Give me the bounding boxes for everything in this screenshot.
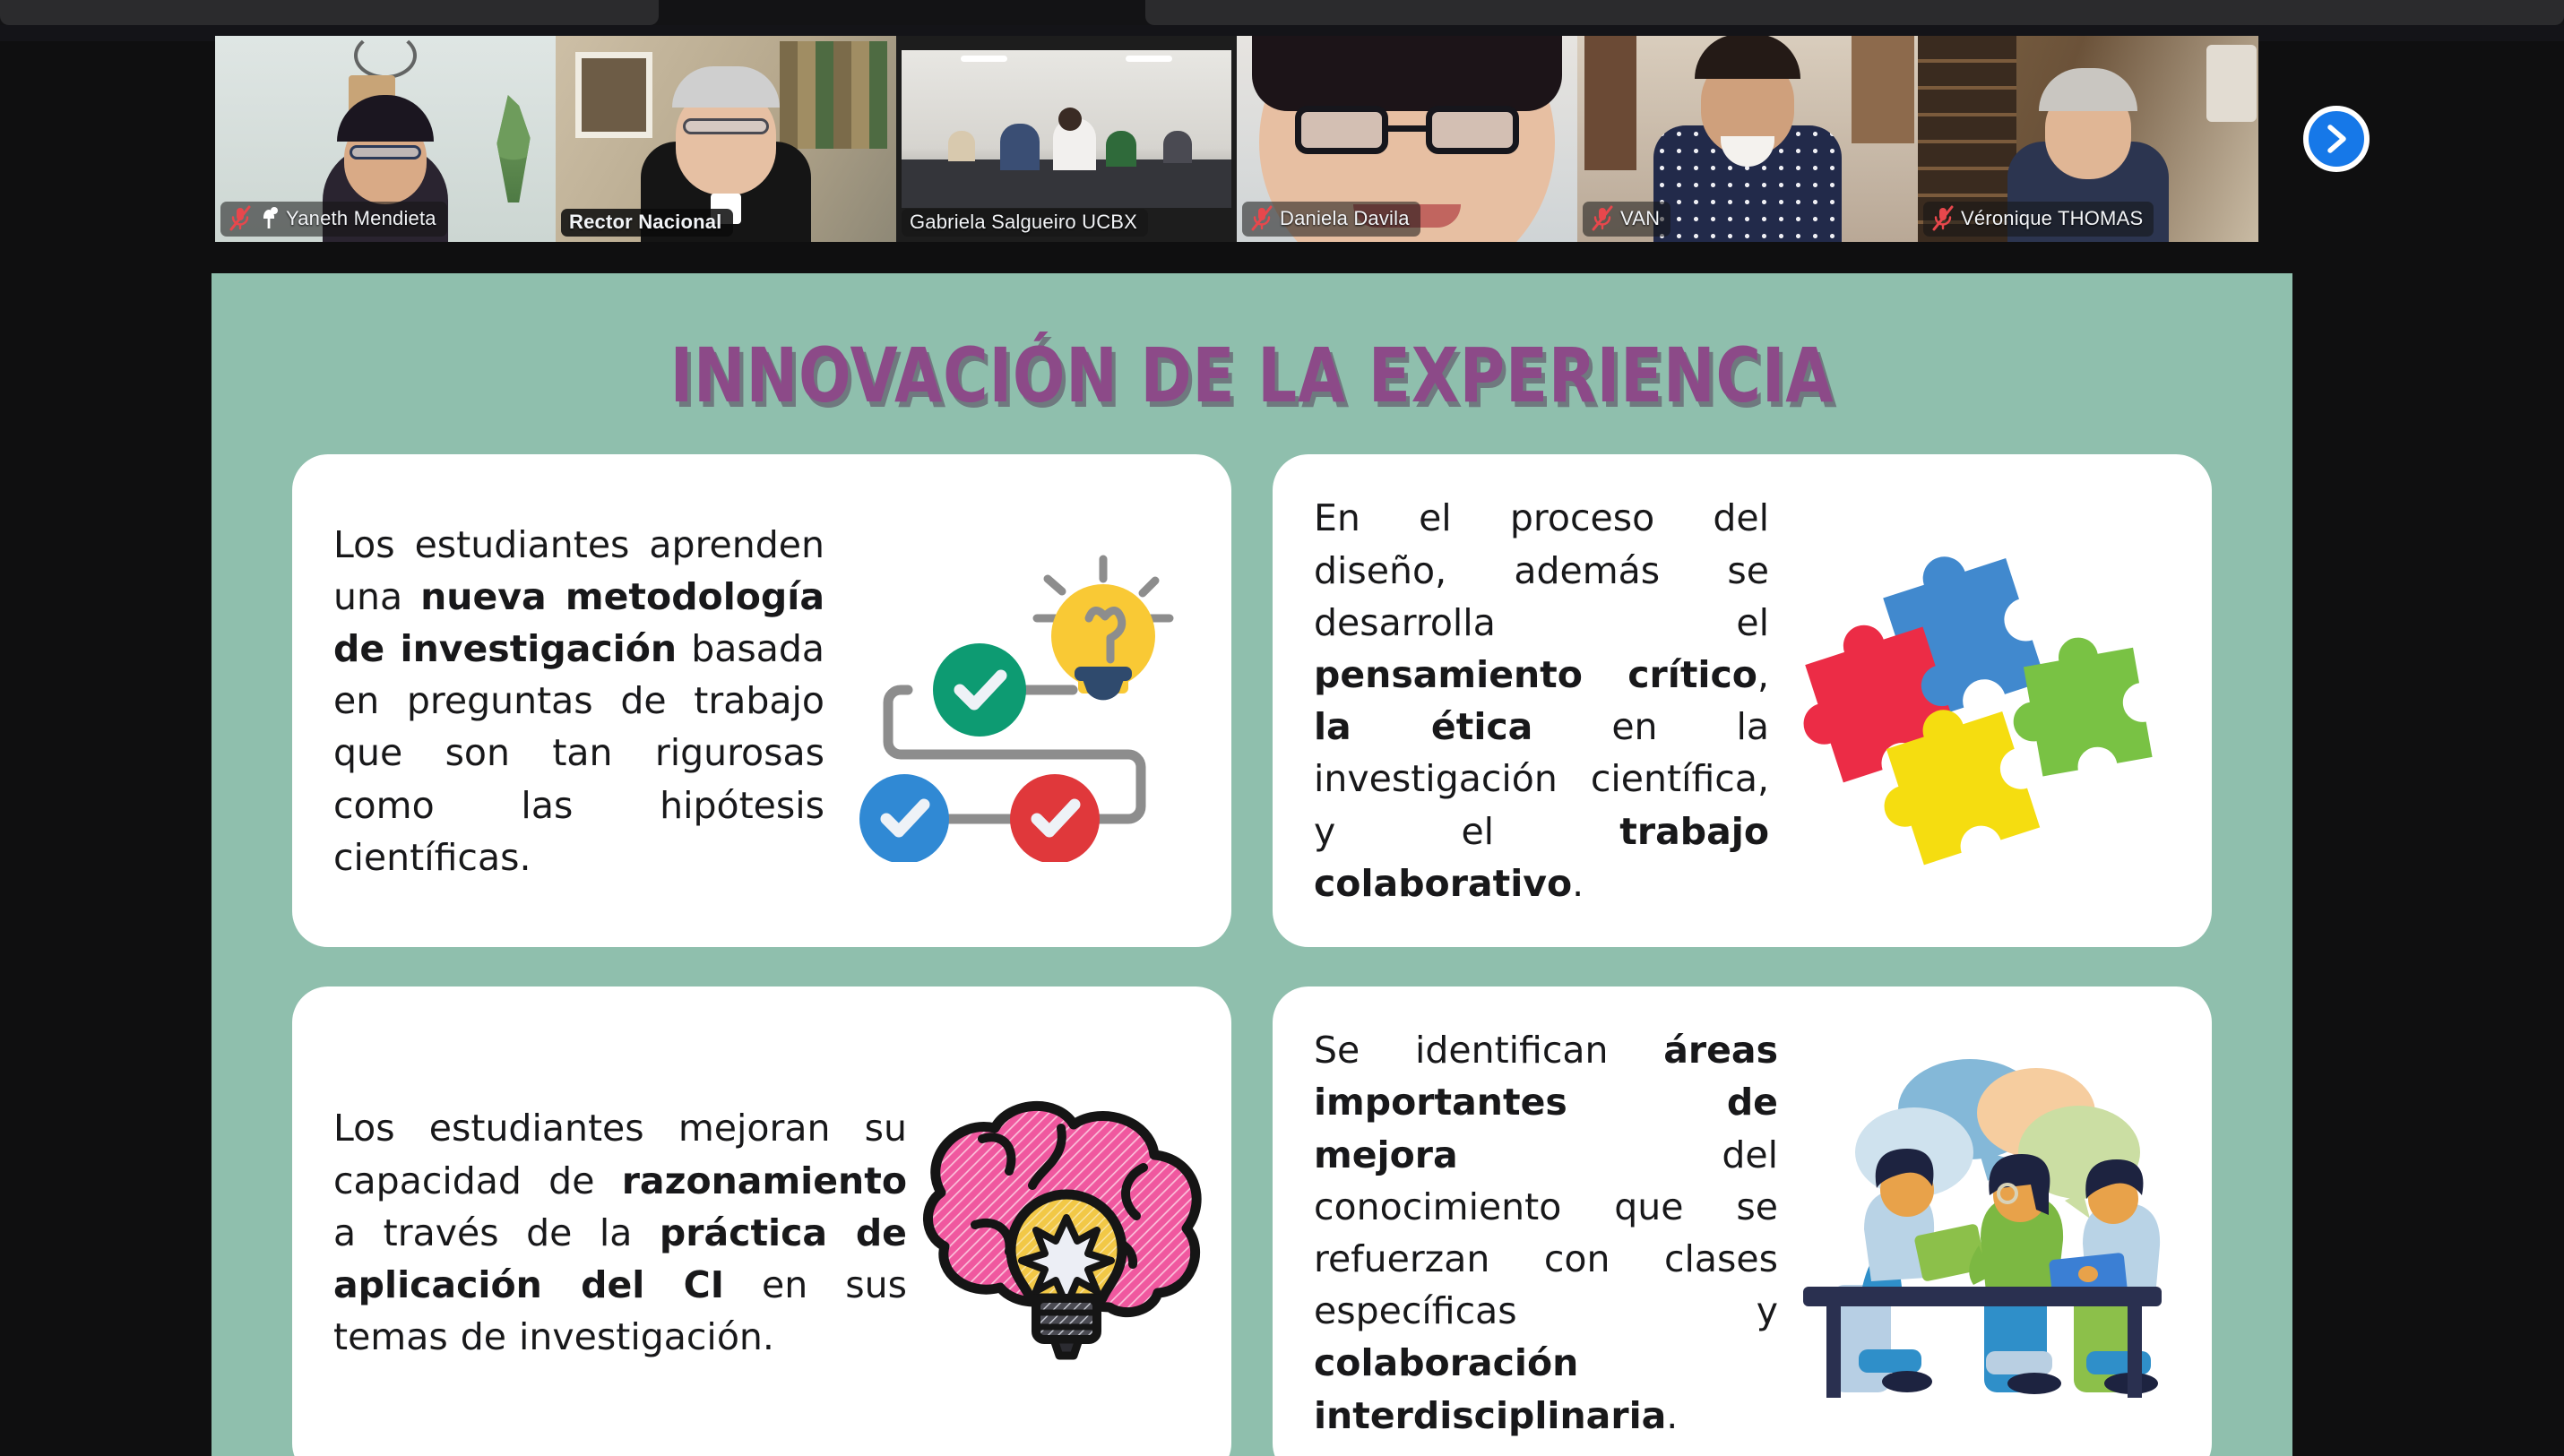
chevron-right-icon	[2321, 122, 2352, 156]
slide-title: INNOVACIÓN DE LA EXPERIENCIA	[436, 334, 2068, 417]
participant-name: Gabriela Salgueiro UCBX	[910, 212, 1137, 232]
lightbulb-flowchart-icon	[841, 539, 1190, 862]
participant-tile[interactable]: Véronique THOMAS	[1918, 36, 2258, 242]
card-illustration	[1785, 530, 2171, 871]
slide-card: Los estudiantes aprenden una nueva metod…	[292, 454, 1231, 947]
puzzle-pieces-icon	[1785, 530, 2171, 871]
team-collaboration-icon	[1794, 1054, 2171, 1412]
participant-tile[interactable]: Daniela Davila	[1237, 36, 1577, 242]
participant-name: Daniela Davila	[1280, 209, 1410, 228]
card-illustration	[841, 539, 1190, 862]
slide-card: Los estudiantes mejoran su capacidad de …	[292, 986, 1231, 1456]
participant-name-bar: Yaneth Mendieta	[220, 202, 447, 237]
toolbar-segment-right	[1145, 0, 2564, 25]
participant-name-bar: VAN	[1583, 202, 1670, 237]
pin-icon	[258, 206, 280, 231]
participant-name: VAN	[1620, 209, 1660, 228]
card-illustration	[1794, 1054, 2171, 1412]
slide-card: En el proceso del diseño, además se desa…	[1273, 454, 2212, 947]
participant-filmstrip[interactable]: Yaneth Mendieta Rector Nacional Gabriela…	[215, 36, 2258, 242]
participant-name: Rector Nacional	[569, 212, 722, 232]
microphone-muted-icon	[229, 205, 252, 232]
microphone-muted-icon	[1931, 205, 1955, 232]
participant-name-bar: Rector Nacional	[561, 209, 733, 237]
slide-card: Se identifican áreas importantes de mejo…	[1273, 986, 2212, 1456]
card-text: Los estudiantes mejoran su capacidad de …	[333, 1102, 907, 1363]
participant-name-bar: Véronique THOMAS	[1923, 202, 2154, 237]
participant-tile[interactable]: VAN	[1577, 36, 1918, 242]
participant-tile[interactable]: Rector Nacional	[556, 36, 896, 242]
shared-slide: INNOVACIÓN DE LA EXPERIENCIA Los estudia…	[212, 273, 2292, 1456]
participant-name-bar: Daniela Davila	[1242, 202, 1420, 237]
zoom-meeting-screen: Yaneth Mendieta Rector Nacional Gabriela…	[0, 0, 2564, 1456]
participant-name: Véronique THOMAS	[1961, 209, 2143, 228]
microphone-muted-icon	[1250, 205, 1273, 232]
participant-tile[interactable]: Yaneth Mendieta	[215, 36, 556, 242]
participant-tile[interactable]: Gabriela Salgueiro UCBX	[896, 36, 1237, 242]
microphone-muted-icon	[1591, 205, 1614, 232]
brain-lightbulb-icon	[882, 1085, 1231, 1381]
participant-name: Yaneth Mendieta	[286, 209, 436, 228]
toolbar-segment-left	[0, 0, 659, 25]
slide-card-grid: Los estudiantes aprenden una nueva metod…	[256, 454, 2248, 1456]
next-page-button[interactable]	[2303, 106, 2370, 172]
card-illustration	[923, 1085, 1231, 1381]
participant-name-bar: Gabriela Salgueiro UCBX	[902, 209, 1148, 237]
card-text: Se identifican áreas importantes de mejo…	[1314, 1024, 1778, 1442]
card-text: En el proceso del diseño, además se desa…	[1314, 492, 1769, 909]
card-text: Los estudiantes aprenden una nueva metod…	[333, 519, 824, 884]
top-toolbar	[0, 0, 2564, 25]
